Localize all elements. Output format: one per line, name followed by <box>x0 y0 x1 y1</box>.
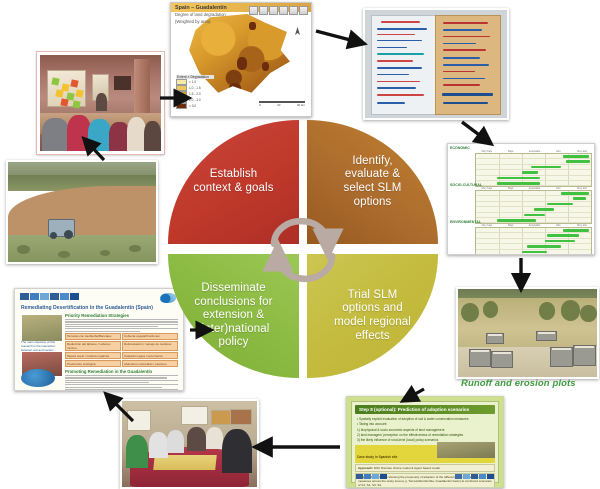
map-north-arrow-icon <box>294 27 301 43</box>
gantt-row <box>476 250 591 255</box>
slide-approach: Approach: DSC Discrete choice model & Ag… <box>355 464 495 472</box>
map-hotspot <box>229 83 241 94</box>
map-tool-pan-icon[interactable] <box>249 6 258 15</box>
photo-stakeholder-meeting[interactable] <box>120 399 259 489</box>
poster-body: Priority Remediation Strategies Terrazas… <box>65 313 178 391</box>
flipchart-sheet-right <box>435 15 501 114</box>
map-legend-item: 1.5 - 2.0 <box>176 91 214 97</box>
case-study-heading: Case study in Spanish site <box>355 455 397 459</box>
poster-table-row: Producción ecológica Abandono controlado… <box>65 360 178 367</box>
photo-content <box>8 162 156 262</box>
slide-photo-field <box>437 442 495 458</box>
map-scale-bar: 0 20 40 km <box>259 101 305 107</box>
poster-cell: Terrazas con deshierbe/Bancales <box>65 333 121 340</box>
tractor <box>48 219 75 237</box>
flipchart-heading-racionalizar <box>442 93 493 96</box>
legend-swatch <box>176 79 187 85</box>
scale-tick: 20 <box>277 103 280 107</box>
poster-section2-heading: Promoting Remediation in the Guadalentín <box>65 369 178 374</box>
map-subtitle-line1: Degree of land degradation <box>175 12 226 17</box>
legend-label: < 1.0 <box>189 80 196 84</box>
map-legend-item: > 3.0 <box>176 103 214 109</box>
slide-bullet: 2) land managers' perception on the effe… <box>357 433 493 437</box>
scale-tick: 0 <box>259 103 261 107</box>
legend-label: 1.0 - 1.5 <box>189 86 201 90</box>
slide-footer-right-logos <box>455 474 494 479</box>
poster-cell: Reducción del laboreo / Laboreo mínimo <box>65 341 121 352</box>
poster-cell: Producción ecológica <box>65 360 121 367</box>
map-legend-item: < 1.0 <box>176 79 214 85</box>
map-tool-measure-icon[interactable] <box>289 6 298 15</box>
legend-swatch <box>176 91 187 97</box>
slm-research-cycle: Establishcontext & goals Identify,evalua… <box>168 120 438 378</box>
slide-body: Step 8 (optional): Prediction of adoptio… <box>351 401 499 483</box>
poster-logo-strip <box>20 293 79 300</box>
map-legend-item: 2.0 - 3.0 <box>176 97 214 103</box>
globe-icon <box>21 369 55 387</box>
diagram-canvas: Spain – Guadalentín Degree of land degra… <box>0 0 600 489</box>
map-toolbar[interactable] <box>249 6 308 15</box>
cycle-identify[interactable]: Identify,evaluate &select SLMoptions <box>307 120 438 244</box>
step8-slide[interactable]: Step 8 (optional): Prediction of adoptio… <box>346 396 504 488</box>
poster-table-row: Reducción del laboreo / Laboreo mínimo R… <box>65 341 178 352</box>
slide-header-text: Step 8 (optional): Prediction of adoptio… <box>355 407 469 412</box>
map-legend-title: Extent × Degradation <box>176 75 214 79</box>
map-tool-layers-icon[interactable] <box>299 6 308 15</box>
map-card[interactable]: Spain – Guadalentín Degree of land degra… <box>170 2 312 117</box>
slide-footer-left-logos <box>356 474 387 479</box>
map-hotspot <box>249 22 255 29</box>
slide-bullet: • Taking into account: <box>357 422 493 426</box>
gantt-card[interactable]: ECONOMIC Muy bajo Bajo Aceptable Alto Mu… <box>447 143 595 255</box>
poster-cell: Mejora suelo / materia orgánica <box>65 352 121 359</box>
cycle-trial-label: Trial SLMoptions andmodel regionaleffect… <box>325 289 420 343</box>
legend-swatch <box>176 103 187 109</box>
map-tool-select-icon[interactable] <box>269 6 278 15</box>
legend-swatch <box>176 97 187 103</box>
flipchart-sheet-left <box>371 15 437 114</box>
gantt-table <box>475 227 592 255</box>
legend-swatch <box>176 85 187 91</box>
poster-table-row: Mejora suelo / materia orgánica Captació… <box>65 352 178 359</box>
photo-content <box>40 55 161 151</box>
map-legend: Extent × Degradation < 1.0 1.0 - 1.5 1.5… <box>176 75 214 109</box>
cycle-establish[interactable]: Establishcontext & goals <box>168 120 299 244</box>
map-legend-item: 1.0 - 1.5 <box>176 85 214 91</box>
map-subtitle-line2: (Weighted by area) <box>175 19 211 24</box>
slide-header: Step 8 (optional): Prediction of adoptio… <box>355 405 495 414</box>
photo-contour-ploughing[interactable] <box>6 160 158 264</box>
poster-table-row: Terrazas con deshierbe/Bancales Cubierta… <box>65 333 178 340</box>
map-hotspot <box>237 57 247 70</box>
map-tool-zoom-icon[interactable] <box>259 6 268 15</box>
legend-label: 1.5 - 2.0 <box>189 92 201 96</box>
photo-erosion-plots[interactable] <box>456 287 599 379</box>
workshop-flipcharts[interactable] <box>363 8 509 120</box>
legend-label: 2.0 - 3.0 <box>189 98 201 102</box>
cycle-disseminate-label: Disseminateconclusions forextension &(in… <box>185 282 281 350</box>
poster-photo-landscape <box>21 314 63 342</box>
arrow-map-to-flipcharts <box>316 31 358 42</box>
slide-bullet: 1) biophysical & socio-economic aspects … <box>357 428 493 432</box>
slide-bullet: • Spatially explicit evaluation of adopt… <box>357 417 493 421</box>
label-runoff-and-erosion-plots: Runoff and erosion plots <box>461 378 576 389</box>
photo-workshop-presentation[interactable] <box>37 52 164 154</box>
gantt-section: SOCIO-CULTURAL Muy bajo Bajo Aceptable A… <box>448 183 594 224</box>
poster-title: Remediating Desertification in the Guada… <box>21 305 153 311</box>
poster-card[interactable]: Remediating Desertification in the Guada… <box>14 288 184 391</box>
gantt-section: ENVIRONMENTAL Muy bajo Bajo Aceptable Al… <box>448 220 594 255</box>
photo-content <box>122 401 257 487</box>
cycle-identify-label: Identify,evaluate &select SLMoptions <box>335 155 411 209</box>
map-tool-identify-icon[interactable] <box>279 6 288 15</box>
photo-content <box>458 289 597 377</box>
cycle-trial[interactable]: Trial SLMoptions andmodel regionaleffect… <box>307 254 438 378</box>
legend-label: > 3.0 <box>189 104 196 108</box>
map-hotspot <box>262 62 269 72</box>
poster-section1-heading: Priority Remediation Strategies <box>65 313 178 318</box>
cycle-establish-label: Establishcontext & goals <box>184 168 282 195</box>
gantt-section: ECONOMIC Muy bajo Bajo Aceptable Alto Mu… <box>448 146 594 187</box>
scale-tick: 40 km <box>297 103 305 107</box>
cycle-disseminate[interactable]: Disseminateconclusions forextension &(in… <box>168 254 299 378</box>
arrow-flipcharts-to-gantt <box>462 122 486 140</box>
map-title: Spain – Guadalentín Degree of land degra… <box>175 5 227 25</box>
